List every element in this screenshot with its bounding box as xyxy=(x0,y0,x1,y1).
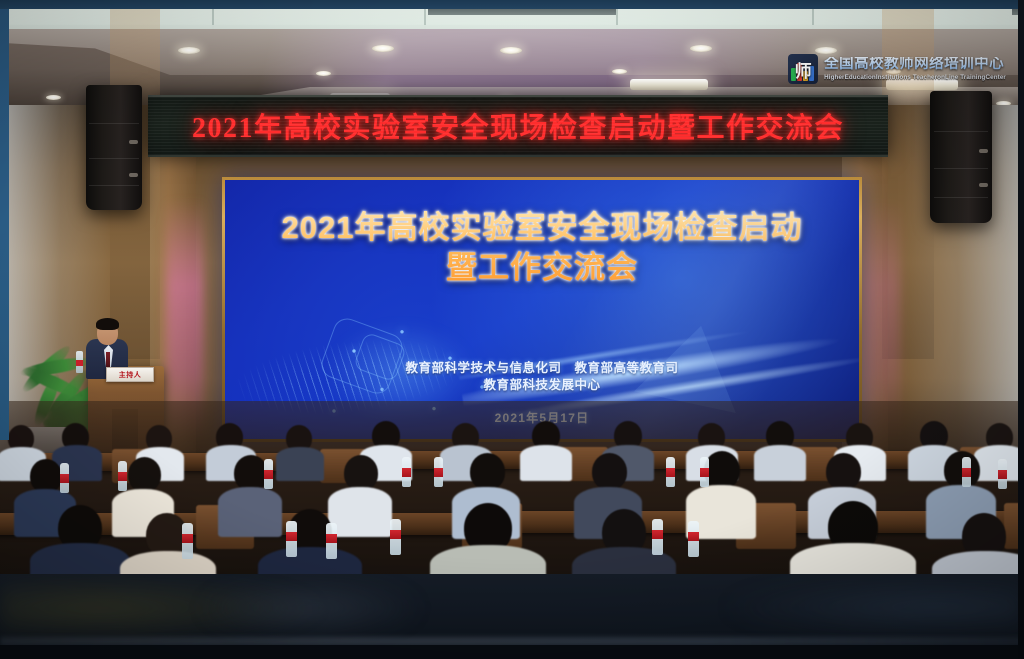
audience-head xyxy=(470,453,505,490)
screen-subtitle-line2: 教育部科技发展中心 xyxy=(225,377,859,394)
water-bottle xyxy=(60,463,69,493)
audience-head xyxy=(592,453,627,490)
audience-head xyxy=(344,455,378,491)
ceiling-downlight xyxy=(612,69,627,74)
audience-person xyxy=(790,543,916,574)
ceiling-downlight xyxy=(815,47,837,54)
water-bottle xyxy=(182,523,193,559)
screen-subtitle: 教育部科学技术与信息化司 教育部高等教育司 教育部科技发展中心 xyxy=(225,360,859,394)
audience-person xyxy=(258,547,362,574)
water-bottle xyxy=(688,521,699,557)
podium-name-card-text: 主持人 xyxy=(119,370,142,380)
speaker-column-left xyxy=(86,85,142,210)
audience-area xyxy=(0,401,1024,574)
led-banner-text: 2021年高校实验室安全现场检查启动暨工作交流会 xyxy=(192,106,844,146)
water-bottle xyxy=(652,519,663,555)
logo-glyph: 师 xyxy=(795,57,812,82)
audience-head xyxy=(826,453,861,490)
ceiling-downlight xyxy=(372,45,394,52)
ceiling-downlight xyxy=(178,47,200,54)
right-border-strip xyxy=(1018,0,1024,659)
water-bottle xyxy=(998,459,1007,489)
water-bottle xyxy=(434,457,443,487)
water-bottle xyxy=(326,523,337,559)
water-bottle xyxy=(390,519,401,555)
bottom-blur-right xyxy=(724,580,1024,634)
ceiling-downlight xyxy=(690,45,712,52)
ceiling-downlight xyxy=(46,95,61,100)
channel-watermark: 师 全国高校教师网络培训中心 HigherEducationInstitutio… xyxy=(788,54,1006,84)
water-bottle xyxy=(286,521,297,557)
led-banner: 2021年高校实验室安全现场检查启动暨工作交流会 xyxy=(148,95,888,157)
audience-person xyxy=(328,487,392,537)
water-bottle xyxy=(666,457,675,487)
watermark-title-cn: 全国高校教师网络培训中心 xyxy=(824,57,1006,72)
training-center-logo-icon: 师 xyxy=(788,54,818,84)
audience-person xyxy=(430,545,546,574)
audience-head xyxy=(704,451,740,489)
water-bottle xyxy=(700,457,709,487)
ceiling-downlight xyxy=(500,47,522,54)
bottom-black-edge xyxy=(0,645,1024,659)
audience-head xyxy=(234,455,268,491)
water-bottle xyxy=(264,459,273,489)
water-bottle xyxy=(962,457,971,487)
audience-head xyxy=(128,457,161,492)
screen-subtitle-line1: 教育部科学技术与信息化司 教育部高等教育司 xyxy=(225,360,859,377)
presenter-hair xyxy=(96,318,119,330)
water-bottle xyxy=(118,461,127,491)
left-border-strip xyxy=(0,0,9,440)
audience-person xyxy=(754,445,806,481)
conference-video-frame: 2021年高校实验室安全现场检查启动暨工作交流会 2021年高校实验室安全现场 xyxy=(0,0,1024,659)
screen-title-line2: 暨工作交流会 xyxy=(225,248,859,288)
presenter-tie xyxy=(106,352,110,367)
audience-head xyxy=(30,459,62,493)
ceiling-downlight xyxy=(316,71,331,76)
audience-person xyxy=(30,543,130,574)
conference-hall-scene: 2021年高校实验室安全现场检查启动暨工作交流会 2021年高校实验室安全现场 xyxy=(0,9,1024,574)
watermark-text-block: 全国高校教师网络培训中心 HigherEducationInstitutions… xyxy=(824,57,1006,81)
audience-person xyxy=(276,447,324,481)
water-bottle xyxy=(402,457,411,487)
screen-title: 2021年高校实验室安全现场检查启动 暨工作交流会 xyxy=(225,208,859,288)
ceiling-strip-light xyxy=(630,79,708,90)
ceiling-vent xyxy=(428,9,616,15)
podium-water-bottle xyxy=(76,351,83,373)
bottom-dark-band xyxy=(0,574,1024,659)
screen-title-line1: 2021年高校实验室安全现场检查启动 xyxy=(225,208,859,248)
podium-name-card: 主持人 xyxy=(106,367,154,382)
audience-person xyxy=(218,487,282,537)
bottom-blur-center xyxy=(200,578,420,638)
speaker-column-right xyxy=(930,91,992,223)
audience-person xyxy=(520,445,572,481)
watermark-title-en: HigherEducationInstitutions TeacheronLin… xyxy=(824,75,1006,81)
top-border-strip xyxy=(0,0,1024,9)
